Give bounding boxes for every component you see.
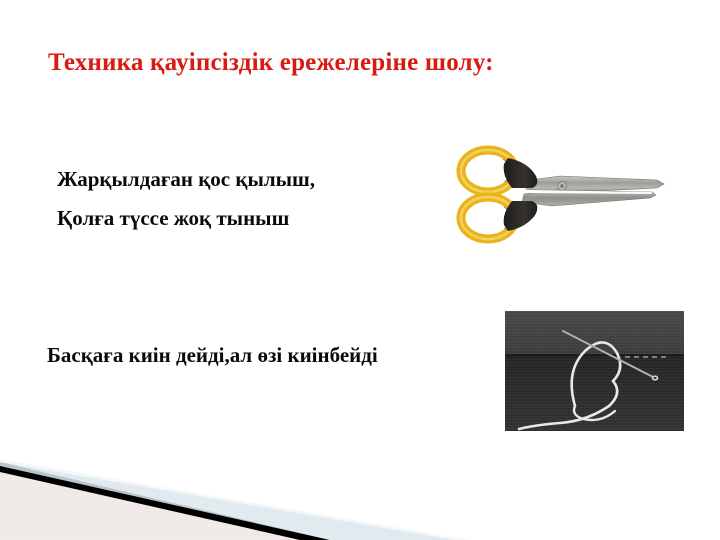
- deco-band-dark: [0, 462, 330, 540]
- page-title: Техника қауіпсіздік ережелеріне шолу:: [48, 48, 668, 78]
- riddle-one-text-block: Жарқылдаған қос қылыш, Қолға түссе жоқ т…: [57, 160, 457, 238]
- scissors-photo: [452, 136, 674, 252]
- deco-band-pale: [0, 466, 300, 540]
- riddle-one-line-1: Жарқылдаған қос қылыш,: [57, 160, 457, 199]
- riddle-one-line-2: Қолға түссе жоқ тыныш: [57, 199, 457, 238]
- deco-band-light: [0, 460, 470, 540]
- slide-canvas: Техника қауіпсіздік ережелеріне шолу: Жа…: [0, 0, 720, 540]
- deco-band-edge: [0, 459, 470, 540]
- bottom-decoration: [0, 450, 470, 540]
- fabric-seam: [505, 354, 684, 356]
- riddle-two-line-1: Басқаға киін дейді,ал өзі киінбейді: [47, 341, 517, 369]
- needle-and-thread-photo: [505, 311, 684, 431]
